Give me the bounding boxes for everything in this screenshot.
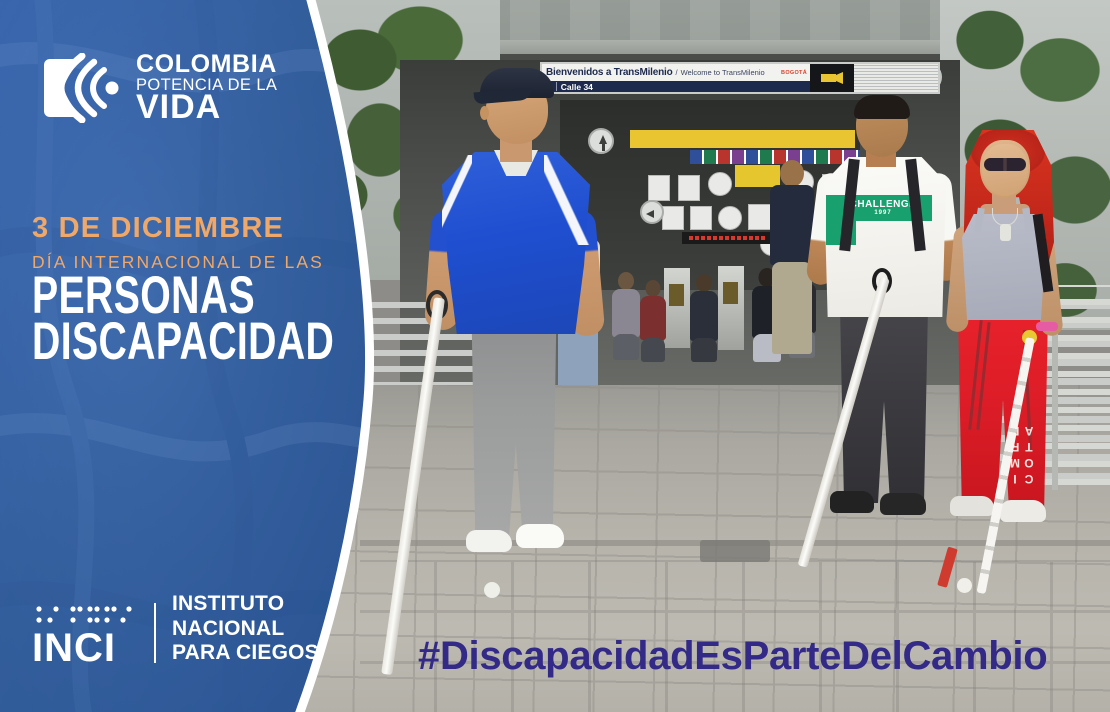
jersey-stripe-right (544, 155, 590, 245)
shoe-right (880, 493, 926, 515)
turnstile-reader (669, 284, 684, 306)
headline-discapacidad: DISCAPACIDAD (32, 318, 276, 366)
person-man-blue-jersey (420, 60, 620, 590)
inci-logo: INCI INSTITUTO NACIONAL PARA CIEGOS (32, 592, 319, 666)
station-plate (648, 175, 670, 201)
station-staff (770, 160, 814, 350)
colombia-brand-logo: COLOMBIA POTENCIA DE LA VIDA (44, 52, 277, 124)
sign-welcome-en: Welcome to TransMilenio (681, 69, 765, 77)
sign-info-panel (854, 64, 938, 92)
background-person (640, 280, 666, 356)
floor-drain (700, 540, 770, 562)
brand-line-3: VIDA (136, 91, 277, 124)
colombia-brand-text: COLOMBIA POTENCIA DE LA VIDA (136, 52, 277, 124)
shirt-text-main: CHALLENGE (850, 199, 917, 210)
background-person (690, 274, 718, 358)
headline-row: CON PERSONAS (32, 280, 362, 314)
cane-tip (484, 582, 500, 598)
station-plate-round (708, 172, 732, 196)
person-man-challenge-shirt: CHALLENGE 1997 (810, 95, 960, 555)
led-text (689, 236, 765, 240)
brand-line-1: COLOMBIA (136, 52, 277, 76)
inci-name-line-1: INSTITUTO (172, 592, 319, 617)
hair (854, 95, 910, 119)
inci-name-line-2: NACIONAL (172, 617, 319, 642)
ear (480, 106, 489, 120)
cane-tip (957, 578, 972, 593)
inci-acronym: INCI (32, 630, 116, 666)
station-plate (678, 175, 700, 201)
led-display (682, 232, 772, 244)
campaign-headline-block: 3 DE DICIEMBRE DÍA INTERNACIONAL DE LAS … (32, 214, 362, 365)
shoe-right (1000, 500, 1046, 522)
campaign-date: 3 DE DICIEMBRE (32, 214, 362, 243)
blue-curved-panel: COLOMBIA POTENCIA DE LA VIDA 3 DE DICIEM… (0, 0, 400, 712)
inci-full-name: INSTITUTO NACIONAL PARA CIEGOS (172, 592, 319, 666)
pendant-tag (1000, 224, 1011, 241)
shoe-right (516, 524, 564, 548)
wristband (1036, 322, 1058, 331)
station-plate (690, 206, 712, 230)
station-plate (662, 206, 684, 230)
shoe-left (830, 491, 874, 513)
jersey-stripe-left (442, 155, 472, 233)
braille-dots-icon (34, 604, 138, 626)
shoe-left (466, 530, 512, 552)
security-camera-icon (810, 64, 854, 92)
colombia-soundwave-icon (44, 53, 122, 123)
sunglasses (984, 158, 1026, 171)
campaign-poster: Bienvenidos a TransMilenio / Welcome to … (0, 0, 1110, 712)
trousers (468, 322, 560, 544)
bogota-brand: BOGOTÁ (781, 70, 807, 76)
turnstile (718, 266, 744, 350)
turnstile (664, 268, 690, 348)
station-plate-round (718, 206, 742, 230)
left-arrow-sign-icon (640, 200, 664, 224)
inci-name-line-3: PARA CIEGOS (172, 641, 319, 666)
campaign-hashtag: #DiscapacidadEsParteDelCambio (418, 634, 1047, 679)
turnstile-reader (723, 282, 738, 304)
sign-separator: / (676, 69, 678, 77)
logo-divider (154, 603, 156, 663)
shoe-left (950, 496, 994, 516)
